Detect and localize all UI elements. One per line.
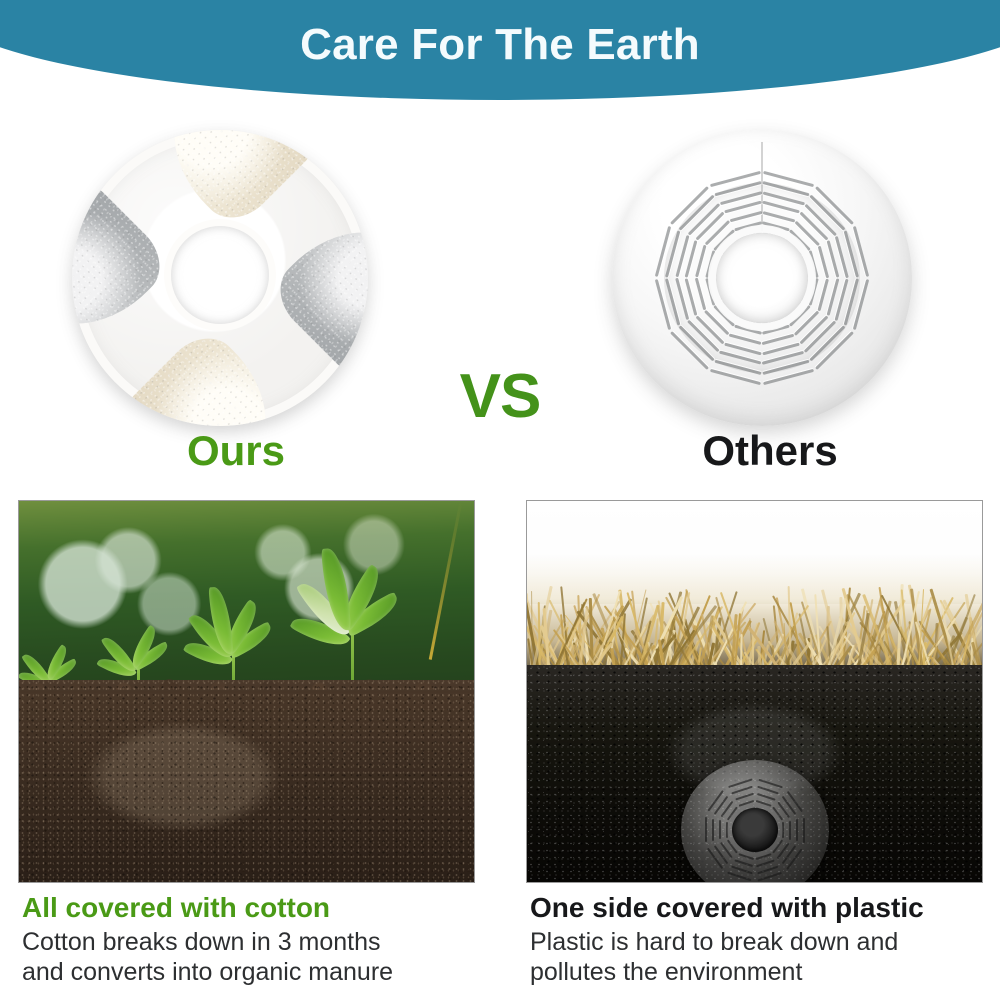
infographic-page: Care For The Earth VS Ours Othe <box>0 0 1000 986</box>
buried-vent-slot <box>803 818 805 843</box>
plastic-vented-disc-icon <box>612 130 912 426</box>
plastic-disc-center-hole <box>716 233 808 323</box>
cotton-pad-cream-bottom <box>107 323 297 426</box>
cotton-pad-cream-top <box>144 130 334 233</box>
photo-seedlings-in-soil <box>18 500 475 883</box>
rich-soil-layer <box>19 680 474 882</box>
page-title: Care For The Earth <box>0 0 1000 90</box>
black-soil-layer <box>527 665 982 882</box>
product-caption-ours: Ours <box>6 428 466 474</box>
benefit-body-ours: Cotton breaks down in 3 months and conve… <box>22 928 492 986</box>
product-column-ours <box>20 118 440 438</box>
product-caption-others: Others <box>540 428 1000 474</box>
benefit-body-ours-line1: Cotton breaks down in 3 months <box>22 928 492 958</box>
dry-grass-layer <box>527 554 982 672</box>
cotton-filter-disc-icon <box>72 130 368 426</box>
buried-vent-slot <box>707 791 723 812</box>
benefit-body-others-line1: Plastic is hard to break down and <box>530 928 1000 958</box>
cotton-pad-carbon-right <box>265 202 368 392</box>
buried-vent-slot <box>796 819 798 841</box>
benefit-body-others: Plastic is hard to break down and pollut… <box>530 928 1000 986</box>
buried-vent-slot <box>705 818 707 843</box>
product-column-others <box>560 118 980 438</box>
benefit-heading-ours: All covered with cotton <box>22 892 492 924</box>
buried-vent-slot <box>719 821 721 840</box>
buried-plastic-disc-icon <box>681 760 829 883</box>
buried-vent-slot <box>786 791 802 812</box>
buried-vent-slot <box>789 821 791 840</box>
buried-vent-slot <box>712 819 714 841</box>
benefit-block-ours: All covered with cotton Cotton breaks do… <box>22 892 492 986</box>
plastic-vent-slot <box>734 221 762 231</box>
cotton-disc-center-hole <box>171 226 269 324</box>
cotton-pad-carbon-left <box>72 165 175 355</box>
benefit-body-others-line2: pollutes the environment <box>530 958 1000 986</box>
buried-disc-center-hole <box>732 808 778 852</box>
buried-vent-slot <box>738 800 754 807</box>
benefit-heading-others: One side covered with plastic <box>530 892 1000 924</box>
product-comparison-row: VS <box>0 118 1000 438</box>
photo-dry-grass-black-soil <box>526 500 983 883</box>
benefit-body-ours-line2: and converts into organic manure <box>22 958 492 986</box>
buried-vent-slot <box>757 872 781 882</box>
plastic-vent-slot <box>729 211 762 222</box>
buried-vent-slot <box>727 872 751 882</box>
soil-texture-overlay <box>19 680 474 882</box>
photo-background-foliage <box>19 501 474 699</box>
benefit-block-others: One side covered with plastic Plastic is… <box>530 892 1000 986</box>
versus-badge: VS <box>440 366 560 428</box>
